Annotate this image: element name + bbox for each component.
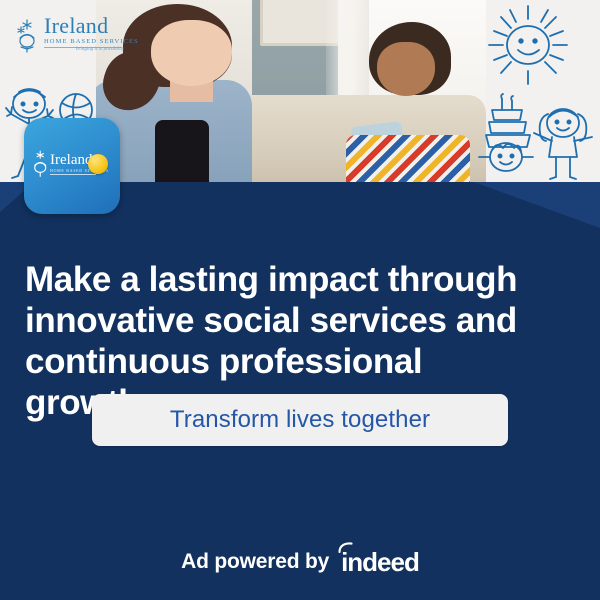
cta-button-label: Transform lives together [170, 406, 430, 434]
indeed-ad-card[interactable]: Ireland HOME BASED SERVICES bringing it … [0, 0, 600, 600]
panel-accent-right [474, 182, 600, 228]
cta-button[interactable]: Transform lives together [92, 394, 508, 446]
photo-woman-face [151, 20, 233, 86]
app-icon-name: Ireland [50, 152, 92, 169]
birthday-cake-doodle [486, 94, 530, 147]
brand-logo-tagline: bringing it to possibility [76, 47, 124, 52]
boy-doodle [479, 143, 533, 171]
ad-attribution-footer: Ad powered by indeed [0, 545, 600, 579]
sun-doodle [489, 6, 567, 84]
lifestyle-photo [96, 0, 486, 182]
smiley-badge-icon [88, 154, 108, 174]
app-icon-divider [50, 174, 96, 175]
indeed-arc-icon [338, 542, 353, 553]
advertiser-app-icon[interactable]: Ireland HOME BASED SERVICES [24, 118, 120, 214]
app-icon-logo-mark-icon [30, 148, 52, 178]
brand-logo-subtitle: HOME BASED SERVICES [44, 38, 139, 45]
girl-doodle [534, 109, 592, 179]
ad-powered-by-text: Ad powered by [181, 550, 329, 574]
indeed-logo[interactable]: indeed [341, 549, 419, 575]
photo-girl-chevron-dress [346, 135, 471, 182]
brand-logo-mark-icon [14, 16, 42, 54]
photo-woman-black-top [155, 120, 210, 182]
brand-logo-name: Ireland [44, 14, 108, 38]
brand-logo: Ireland HOME BASED SERVICES bringing it … [14, 14, 126, 56]
